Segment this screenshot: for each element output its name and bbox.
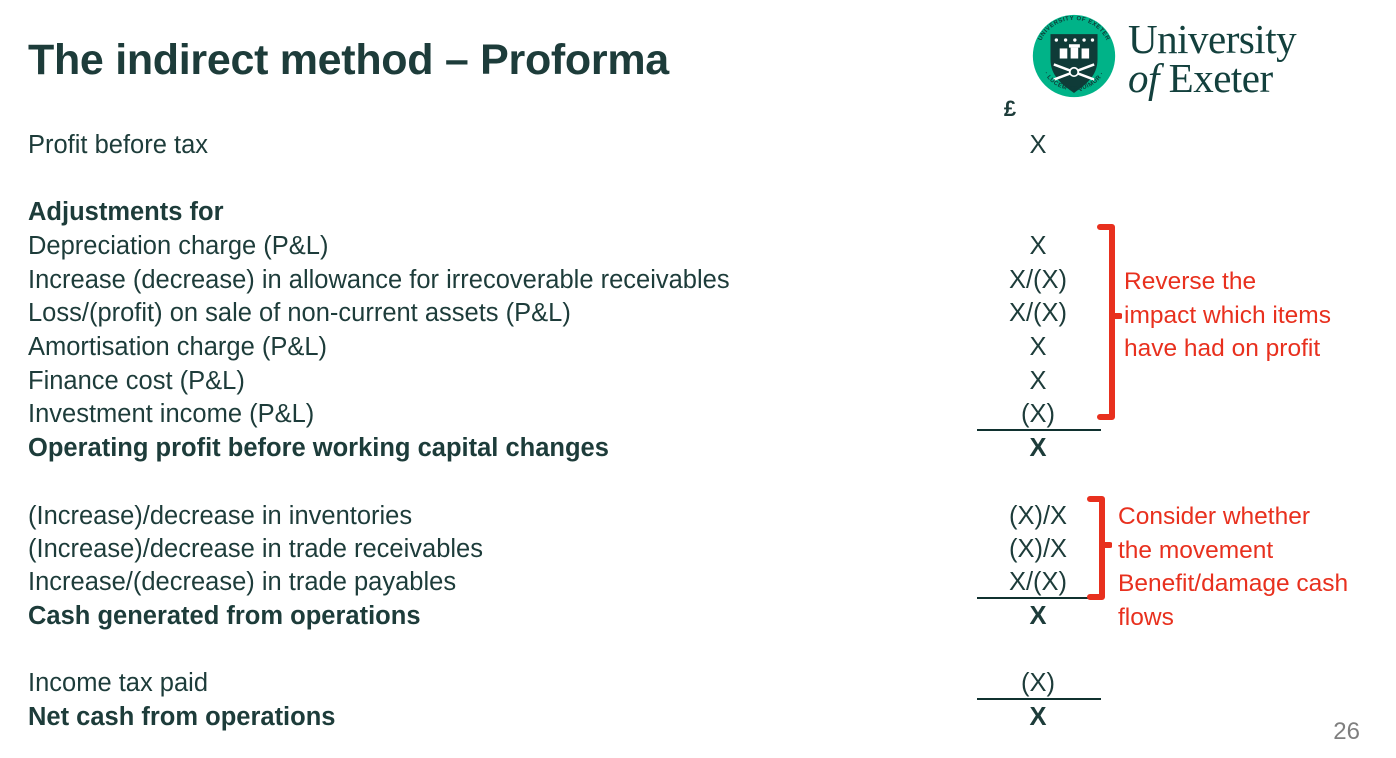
note-line: Benefit/damage cash (1118, 567, 1348, 601)
note-line: flows (1118, 601, 1348, 635)
subtotal-rule (977, 429, 1101, 431)
note-line: Consider whether (1118, 500, 1348, 534)
row-amount: X (948, 701, 1128, 734)
row-label: Amortisation charge (P&L) (28, 331, 327, 364)
row-label: (Increase)/decrease in inventories (28, 500, 412, 533)
row-label: Net cash from operations (28, 701, 335, 734)
row-amount: X (948, 600, 1128, 633)
row-label: Loss/(profit) on sale of non-current ass… (28, 297, 571, 330)
row-amount: X (948, 129, 1128, 162)
movement-brace-icon (1086, 496, 1112, 600)
table-row: Depreciation charge (P&L) X (28, 230, 1368, 263)
row-label: Finance cost (P&L) (28, 365, 245, 398)
subtotal-rule (977, 597, 1101, 599)
page-number: 26 (1333, 718, 1360, 746)
row-label: (Increase)/decrease in trade receivables (28, 533, 483, 566)
row-label: Cash generated from operations (28, 600, 421, 633)
row-amount: (X) (948, 667, 1128, 700)
table-row: Profit before tax X (28, 129, 1368, 162)
reverse-impact-note: Reverse the impact which items have had … (1124, 265, 1331, 366)
row-amount: X (948, 432, 1128, 465)
row-label: Investment income (P&L) (28, 398, 314, 431)
row-label: Profit before tax (28, 129, 208, 162)
table-row: Net cash from operations X (28, 701, 1368, 734)
note-line: have had on profit (1124, 332, 1331, 366)
table-row: Income tax paid (X) (28, 667, 1368, 700)
movement-note: Consider whether the movement Benefit/da… (1118, 500, 1348, 634)
table-row: Investment income (P&L) (X) (28, 398, 1368, 431)
row-label: Increase (decrease) in allowance for irr… (28, 264, 730, 297)
row-label: Income tax paid (28, 667, 208, 700)
subtotal-rule (977, 698, 1101, 700)
row-label: Depreciation charge (P&L) (28, 230, 328, 263)
cash-flow-statement: Profit before tax X Adjustments for Depr… (0, 0, 1396, 758)
row-label: Operating profit before working capital … (28, 432, 609, 465)
reverse-impact-brace-icon (1096, 224, 1122, 420)
table-row: Operating profit before working capital … (28, 432, 1368, 465)
row-label: Adjustments for (28, 196, 224, 229)
table-row: Adjustments for (28, 196, 1368, 229)
note-line: impact which items (1124, 299, 1331, 333)
note-line: Reverse the (1124, 265, 1331, 299)
note-line: the movement (1118, 534, 1348, 568)
row-label: Increase/(decrease) in trade payables (28, 566, 456, 599)
table-row: Finance cost (P&L) X (28, 365, 1368, 398)
slide-canvas: The indirect method – Proforma UNIVERSIT… (0, 0, 1396, 758)
